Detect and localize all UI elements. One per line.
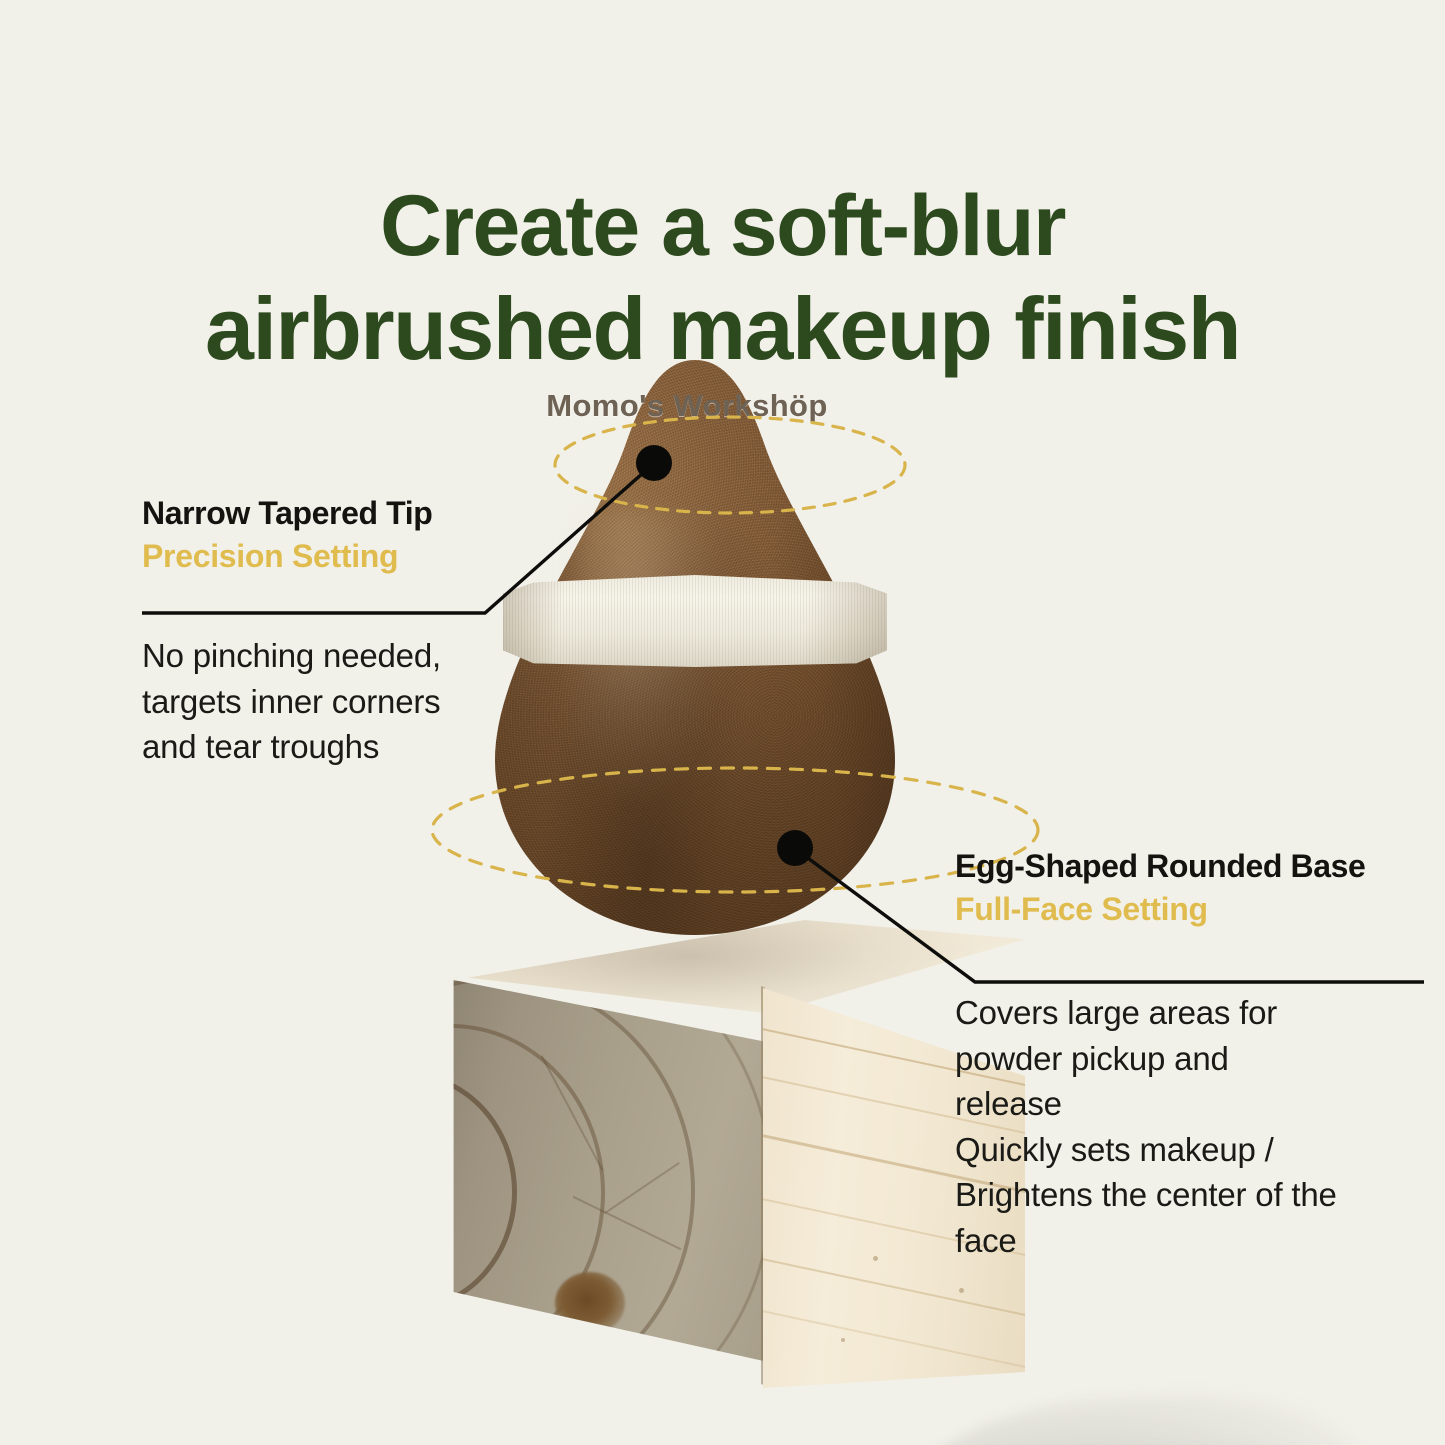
wood-speck	[959, 1288, 964, 1293]
makeup-sponge: Momo's Workshöp	[495, 360, 895, 940]
callout-body-line: and tear troughs	[142, 724, 542, 770]
brand-ribbon-band	[503, 575, 887, 667]
headline-line-1: Create a soft-blur	[0, 176, 1445, 277]
callout-subtitle: Full-Face Setting	[955, 890, 1435, 928]
wood-speck	[873, 1256, 878, 1261]
wood-grain-line	[763, 1307, 1025, 1375]
page-headline: Create a soft-blur airbrushed makeup fin…	[0, 176, 1445, 381]
callout-narrow-tapered-tip: Narrow Tapered Tip Precision Setting No …	[142, 495, 542, 770]
block-left-face-endgrain	[447, 972, 777, 1372]
callout-body-line: Brightens the center of the	[955, 1172, 1435, 1218]
callout-body-line: Covers large areas for	[955, 990, 1435, 1036]
callout-body-line: release	[955, 1081, 1435, 1127]
callout-body-line: No pinching needed,	[142, 633, 542, 679]
infographic-page: Create a soft-blur airbrushed makeup fin…	[0, 0, 1445, 1445]
callout-subtitle: Precision Setting	[142, 537, 542, 575]
callout-egg-shaped-rounded-base: Egg-Shaped Rounded Base Full-Face Settin…	[955, 848, 1435, 1263]
wood-speck	[841, 1338, 845, 1342]
wood-knot	[555, 1272, 625, 1334]
wood-grain-line	[763, 1255, 1025, 1323]
callout-title: Egg-Shaped Rounded Base	[955, 848, 1435, 886]
callout-body: No pinching needed, targets inner corner…	[142, 633, 542, 770]
callout-body-line: face	[955, 1218, 1435, 1264]
callout-body: Covers large areas for powder pickup and…	[955, 990, 1435, 1263]
callout-body-line: powder pickup and	[955, 1036, 1435, 1082]
block-floor-shadow	[847, 1383, 1412, 1445]
callout-title: Narrow Tapered Tip	[142, 495, 542, 533]
callout-body-line: targets inner corners	[142, 679, 542, 725]
ribbon-shading	[503, 575, 887, 667]
wooden-block-pedestal	[445, 920, 1025, 1380]
callout-body-line: Quickly sets makeup /	[955, 1127, 1435, 1173]
brand-label-text: Momo's Workshöp	[495, 360, 879, 452]
